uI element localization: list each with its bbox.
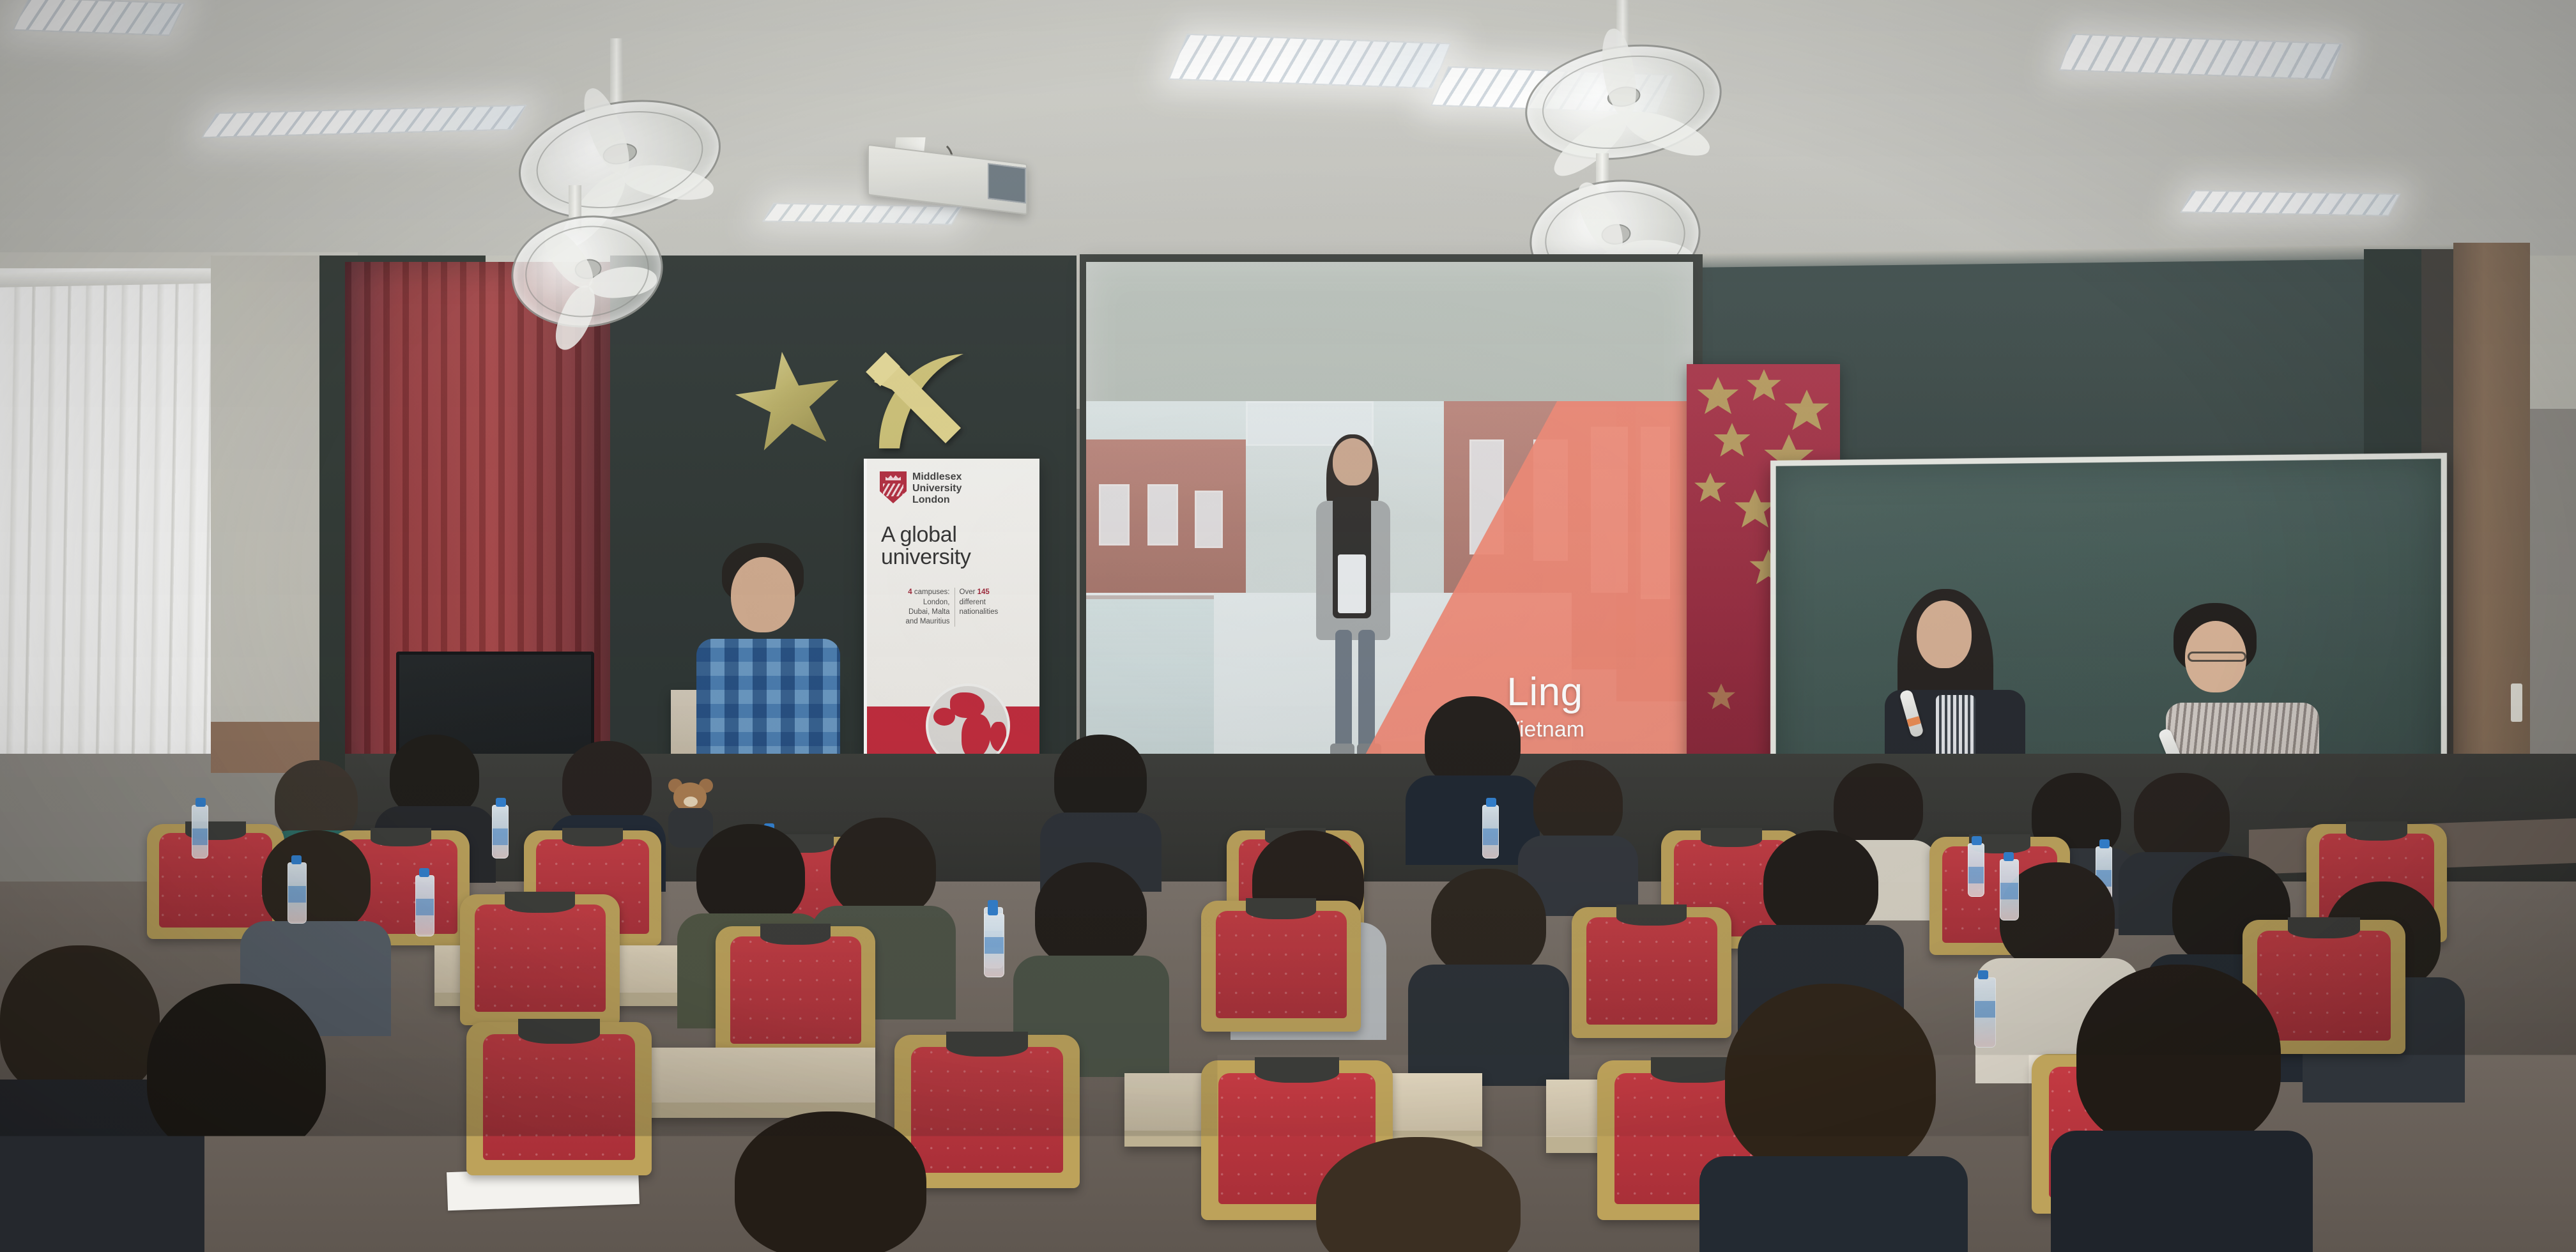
mdx-logo: Middlesex University London — [880, 471, 1029, 506]
logo-line-2: University — [912, 483, 962, 494]
projector-lens — [988, 163, 1026, 203]
water-bottle[interactable] — [1974, 977, 1996, 1048]
audience-member — [1763, 830, 1878, 996]
chair[interactable] — [1572, 907, 1731, 1038]
logo-line-1: Middlesex — [912, 471, 962, 483]
banner-stat-nationalities: Over 145 different nationalities — [954, 588, 1030, 627]
water-bottle[interactable] — [192, 805, 208, 859]
stat-1-value: 4 — [908, 588, 912, 596]
ceiling-light — [12, 0, 185, 36]
stat-1-detail-1: London, — [923, 599, 950, 606]
projection-screen: Ling Vietnam BSc Banking and Finance — [1086, 262, 1693, 837]
stat-1-label: campuses: — [914, 588, 950, 596]
audience-member — [1316, 1137, 1521, 1252]
audience-member — [735, 1111, 926, 1252]
ceiling-light — [2180, 190, 2401, 217]
water-bottle[interactable] — [2000, 859, 2019, 920]
crown-icon — [885, 475, 901, 480]
audience-member — [2076, 965, 2281, 1246]
audience-member — [1054, 735, 1147, 862]
audience-member — [147, 984, 326, 1252]
fan-cage — [505, 207, 669, 336]
head — [1917, 600, 1972, 668]
audience-member — [1431, 869, 1546, 1035]
hammer-and-sickle-icon — [856, 339, 984, 466]
chair[interactable] — [466, 1022, 652, 1175]
audience-member — [1425, 696, 1521, 830]
stat-1-detail-2: Dubai, Malta — [908, 608, 950, 616]
banner-headline-1: A global — [881, 523, 957, 547]
presentation-slide: Ling Vietnam BSc Banking and Finance — [1086, 401, 1693, 810]
audience-member — [1725, 984, 1936, 1252]
glasses-icon — [2188, 652, 2246, 662]
door-latch-icon[interactable] — [2511, 683, 2522, 722]
logo-line-3: London — [912, 494, 962, 506]
chair[interactable] — [1201, 901, 1361, 1032]
slide-student-photo — [1311, 438, 1394, 770]
water-bottle[interactable] — [1482, 805, 1499, 859]
stat-2-label-1: different — [960, 599, 986, 606]
ceiling-light — [1168, 34, 1451, 89]
lecture-hall-photo: Ling Vietnam BSc Banking and Finance 201… — [0, 0, 2576, 1252]
stat-2-prefix: Over — [960, 588, 976, 596]
water-bottle[interactable] — [287, 862, 307, 924]
audience-member — [262, 830, 371, 990]
water-bottle[interactable] — [984, 913, 1004, 977]
waves-icon — [883, 484, 903, 496]
ceiling-projector — [850, 137, 1048, 220]
stat-2-label-2: nationalities — [960, 608, 999, 616]
audience-member — [1533, 760, 1623, 888]
mdx-shield-icon — [880, 471, 907, 503]
audience-member — [1035, 862, 1147, 1028]
head — [731, 557, 795, 632]
water-bottle[interactable] — [492, 805, 509, 859]
banner-stats-top: 4 campuses: London, Dubai, Malta and Mau… — [880, 588, 1029, 627]
water-bottle[interactable] — [1968, 843, 1984, 897]
banner-headline-2: university — [881, 545, 971, 569]
chair[interactable] — [460, 894, 620, 1025]
gold-star-icon — [735, 351, 843, 454]
stat-1-detail-3: and Mauritius — [905, 618, 949, 625]
water-bottle[interactable] — [415, 875, 434, 936]
chair[interactable] — [716, 926, 875, 1057]
ceiling-fan[interactable] — [505, 185, 664, 332]
banner-stat-campuses: 4 campuses: London, Dubai, Malta and Mau… — [880, 588, 954, 627]
fan-cage — [1517, 31, 1730, 173]
stat-2-value: 145 — [977, 588, 990, 596]
